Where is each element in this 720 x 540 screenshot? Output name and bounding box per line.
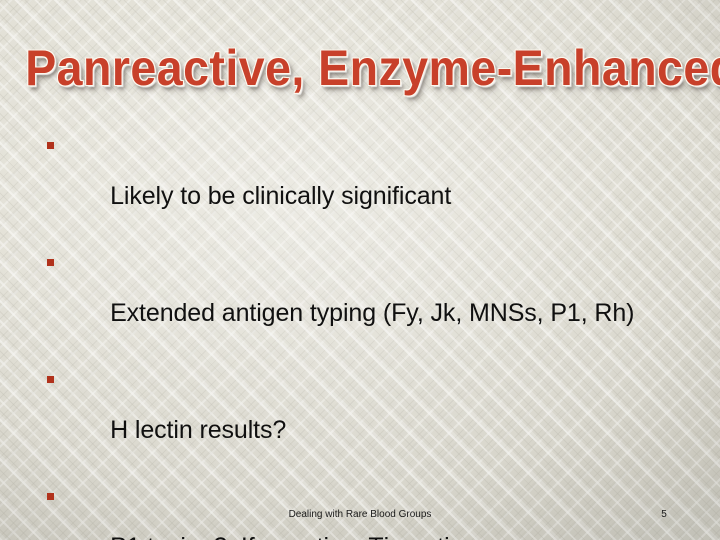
slide-number: 5	[652, 508, 676, 521]
list-item: Likely to be clinically significant	[44, 131, 684, 235]
list-item-label: Extended antigen typing (Fy, Jk, MNSs, P…	[110, 299, 634, 327]
square-bullet-icon	[47, 259, 54, 266]
slide-title: Panreactive, Enzyme-Enhanced	[25, 40, 695, 96]
bullet-list: Likely to be clinically significant Exte…	[44, 131, 684, 540]
slide-footer: Dealing with Rare Blood Groups	[0, 508, 720, 521]
list-item-label: P1 typing? If negative, Tja antiserum	[110, 533, 518, 540]
list-item: H lectin results?	[44, 365, 684, 469]
square-bullet-icon	[47, 142, 54, 149]
list-item-label: H lectin results?	[110, 416, 286, 444]
square-bullet-icon	[47, 376, 54, 383]
presentation-slide: Panreactive, Enzyme-Enhanced Likely to b…	[0, 0, 720, 540]
list-item-label: Likely to be clinically significant	[110, 182, 451, 210]
square-bullet-icon	[47, 493, 54, 500]
list-item: Extended antigen typing (Fy, Jk, MNSs, P…	[44, 248, 684, 352]
